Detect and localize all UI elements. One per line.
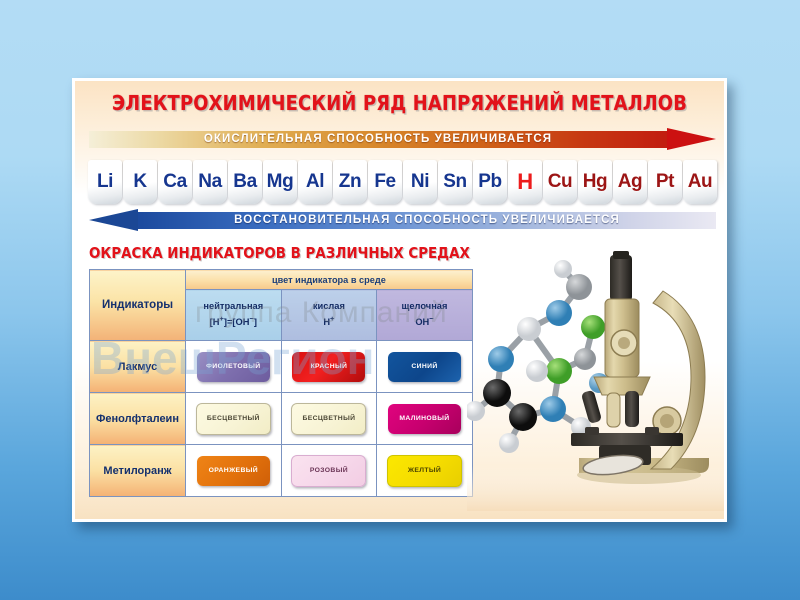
element-symbol: Ca <box>163 171 187 193</box>
element-symbol: Mg <box>267 171 294 193</box>
indicator-name: Фенолфталеин <box>90 393 186 445</box>
table-row: МетилоранжОРАНЖЕВЫЙРОЗОВЫЙЖЕЛТЫЙ <box>90 445 473 497</box>
element-symbol: H <box>517 169 533 195</box>
indicator-name: Метилоранж <box>90 445 186 497</box>
color-chip: ФИОЛЕТОВЫЙ <box>197 352 270 382</box>
molecule-atoms <box>467 260 609 453</box>
reducing-band-label: ВОССТАНОВИТЕЛЬНАЯ СПОСОБНОСТЬ УВЕЛИЧИВАЕ… <box>138 212 716 229</box>
element-symbol: Li <box>97 171 113 193</box>
indicator-color-table: Индикаторыцвет индикатора в среденейтрал… <box>89 269 473 497</box>
element-symbol: Fe <box>374 171 395 193</box>
element-tile-li[interactable]: Li <box>88 160 122 204</box>
color-chip: ЖЕЛТЫЙ <box>387 455 462 487</box>
section-title: ОКРАСКА ИНДИКАТОРОВ В РАЗЛИЧНЫХ СРЕДАХ <box>89 244 470 262</box>
element-symbol: Hg <box>583 171 608 193</box>
element-symbol: Ba <box>233 171 257 193</box>
element-tile-ba[interactable]: Ba <box>228 160 262 204</box>
color-cell: МАЛИНОВЫЙ <box>377 393 473 445</box>
element-tile-pt[interactable]: Pt <box>648 160 682 204</box>
page-title: ЭЛЕКТРОХИМИЧЕСКИЙ РЯД НАПРЯЖЕНИЙ МЕТАЛЛО… <box>85 91 715 115</box>
table-row: ЛакмусФИОЛЕТОВЫЙКРАСНЫЙСИНИЙ <box>90 341 473 393</box>
header-medium-alkaline: щелочнаяOH− <box>377 290 473 341</box>
element-tile-ni[interactable]: Ni <box>403 160 437 204</box>
oxidizing-ability-band: ОКИСЛИТЕЛЬНАЯ СПОСОБНОСТЬ УВЕЛИЧИВАЕТСЯ <box>89 128 716 151</box>
color-cell: ЖЕЛТЫЙ <box>377 445 473 497</box>
element-tile-sn[interactable]: Sn <box>438 160 472 204</box>
color-chip: МАЛИНОВЫЙ <box>388 404 461 434</box>
header-color-in-medium: цвет индикатора в среде <box>186 270 473 290</box>
color-cell: ОРАНЖЕВЫЙ <box>186 445 282 497</box>
activity-series-row: LiKCaNaBaMgAlZnFeNiSnPbHCuHgAgPtAu <box>88 160 717 204</box>
poster-board: ЭЛЕКТРОХИМИЧЕСКИЙ РЯД НАПРЯЖЕНИЙ МЕТАЛЛО… <box>72 78 727 522</box>
element-tile-zn[interactable]: Zn <box>333 160 367 204</box>
table-row: ФенолфталеинБЕСЦВЕТНЫЙБЕСЦВЕТНЫЙМАЛИНОВЫ… <box>90 393 473 445</box>
header-indicators: Индикаторы <box>90 270 186 341</box>
element-tile-cu[interactable]: Cu <box>543 160 577 204</box>
medium-name: кислая <box>282 300 377 313</box>
color-chip: СИНИЙ <box>388 352 461 382</box>
header-medium-acidic: кислаяH+ <box>281 290 377 341</box>
color-cell: РОЗОВЫЙ <box>281 445 377 497</box>
element-tile-pb[interactable]: Pb <box>473 160 507 204</box>
element-tile-ag[interactable]: Ag <box>613 160 647 204</box>
color-chip: КРАСНЫЙ <box>292 352 365 382</box>
element-tile-fe[interactable]: Fe <box>368 160 402 204</box>
arrow-right-icon <box>667 128 716 150</box>
color-chip: РОЗОВЫЙ <box>291 455 366 487</box>
element-symbol: Ag <box>618 171 643 193</box>
color-chip: БЕСЦВЕТНЫЙ <box>291 403 366 435</box>
element-symbol: Na <box>198 171 222 193</box>
table-body: Индикаторыцвет индикатора в среденейтрал… <box>90 270 473 497</box>
color-chip: ОРАНЖЕВЫЙ <box>197 456 270 486</box>
oxidizing-band-label: ОКИСЛИТЕЛЬНАЯ СПОСОБНОСТЬ УВЕЛИЧИВАЕТСЯ <box>89 131 667 148</box>
element-tile-k[interactable]: K <box>123 160 157 204</box>
photo-svg <box>467 251 725 511</box>
element-symbol: Sn <box>443 171 466 193</box>
element-tile-mg[interactable]: Mg <box>263 160 297 204</box>
element-symbol: Au <box>688 171 713 193</box>
element-tile-au[interactable]: Au <box>683 160 717 204</box>
medium-formula: OH− <box>377 314 472 330</box>
color-cell: БЕСЦВЕТНЫЙ <box>186 393 282 445</box>
color-cell: БЕСЦВЕТНЫЙ <box>281 393 377 445</box>
table-header-row-span: Индикаторыцвет индикатора в среде <box>90 270 473 290</box>
medium-formula: H+ <box>282 314 377 330</box>
element-tile-na[interactable]: Na <box>193 160 227 204</box>
element-symbol: Cu <box>548 171 573 193</box>
element-tile-al[interactable]: Al <box>298 160 332 204</box>
color-cell: СИНИЙ <box>377 341 473 393</box>
arrow-left-icon <box>89 209 138 231</box>
element-symbol: Ni <box>411 171 429 193</box>
indicator-name: Лакмус <box>90 341 186 393</box>
element-tile-h[interactable]: H <box>508 160 542 204</box>
element-symbol: Pt <box>656 171 674 193</box>
chemistry-photo <box>467 251 725 511</box>
color-chip: БЕСЦВЕТНЫЙ <box>196 403 271 435</box>
element-tile-ca[interactable]: Ca <box>158 160 192 204</box>
element-symbol: K <box>133 171 146 193</box>
color-cell: КРАСНЫЙ <box>281 341 377 393</box>
medium-name: щелочная <box>377 300 472 313</box>
header-medium-neutral: нейтральная[H+]=[OH−] <box>186 290 282 341</box>
medium-name: нейтральная <box>186 300 281 313</box>
element-symbol: Zn <box>339 171 361 193</box>
color-cell: ФИОЛЕТОВЫЙ <box>186 341 282 393</box>
element-symbol: Al <box>306 171 324 193</box>
element-symbol: Pb <box>478 171 501 193</box>
medium-formula: [H+]=[OH−] <box>186 314 281 330</box>
reducing-ability-band: ВОССТАНОВИТЕЛЬНАЯ СПОСОБНОСТЬ УВЕЛИЧИВАЕ… <box>89 209 716 232</box>
element-tile-hg[interactable]: Hg <box>578 160 612 204</box>
